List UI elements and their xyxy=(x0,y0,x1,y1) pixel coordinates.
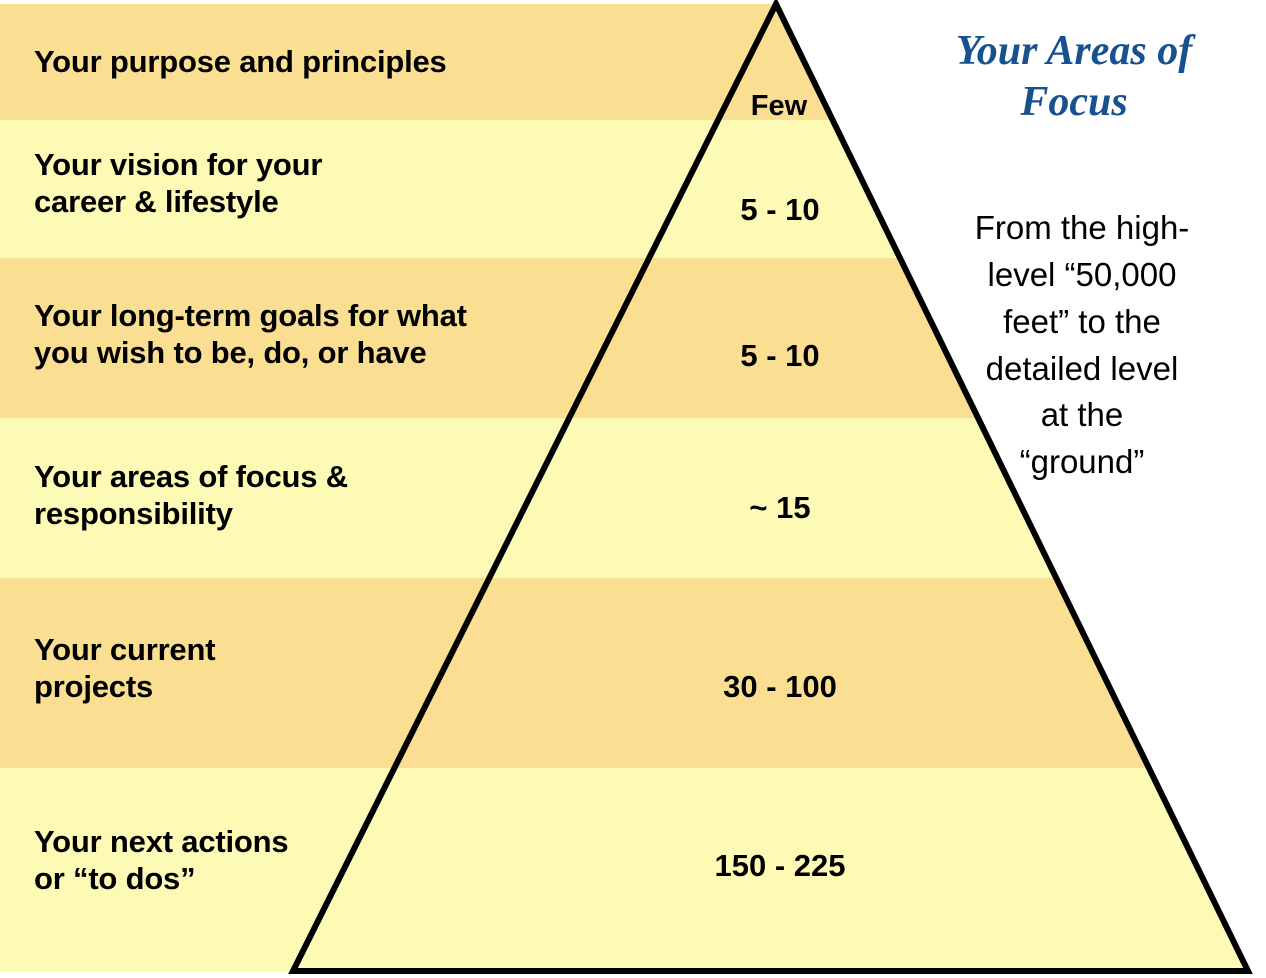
level-label-goals: Your long-term goals for what you wish t… xyxy=(34,298,467,371)
pyramid-diagram: Your purpose and principles Your vision … xyxy=(0,0,1266,978)
level-count-vision: 5 - 10 xyxy=(670,192,890,228)
diagram-title: Your Areas of Focus xyxy=(896,26,1252,128)
level-count-purpose: Few xyxy=(669,90,889,123)
level-label-actions: Your next actions or “to dos” xyxy=(34,824,288,897)
level-label-projects: Your current projects xyxy=(34,632,215,705)
level-count-projects: 30 - 100 xyxy=(670,669,890,705)
level-label-purpose: Your purpose and principles xyxy=(34,44,447,81)
level-label-areas: Your areas of focus & responsibility xyxy=(34,459,348,532)
level-count-actions: 150 - 225 xyxy=(670,848,890,884)
level-count-areas: ~ 15 xyxy=(670,490,890,526)
diagram-caption: From the high- level “50,000 feet” to th… xyxy=(908,205,1256,486)
level-label-vision: Your vision for your career & lifestyle xyxy=(34,147,322,220)
level-count-goals: 5 - 10 xyxy=(670,338,890,374)
